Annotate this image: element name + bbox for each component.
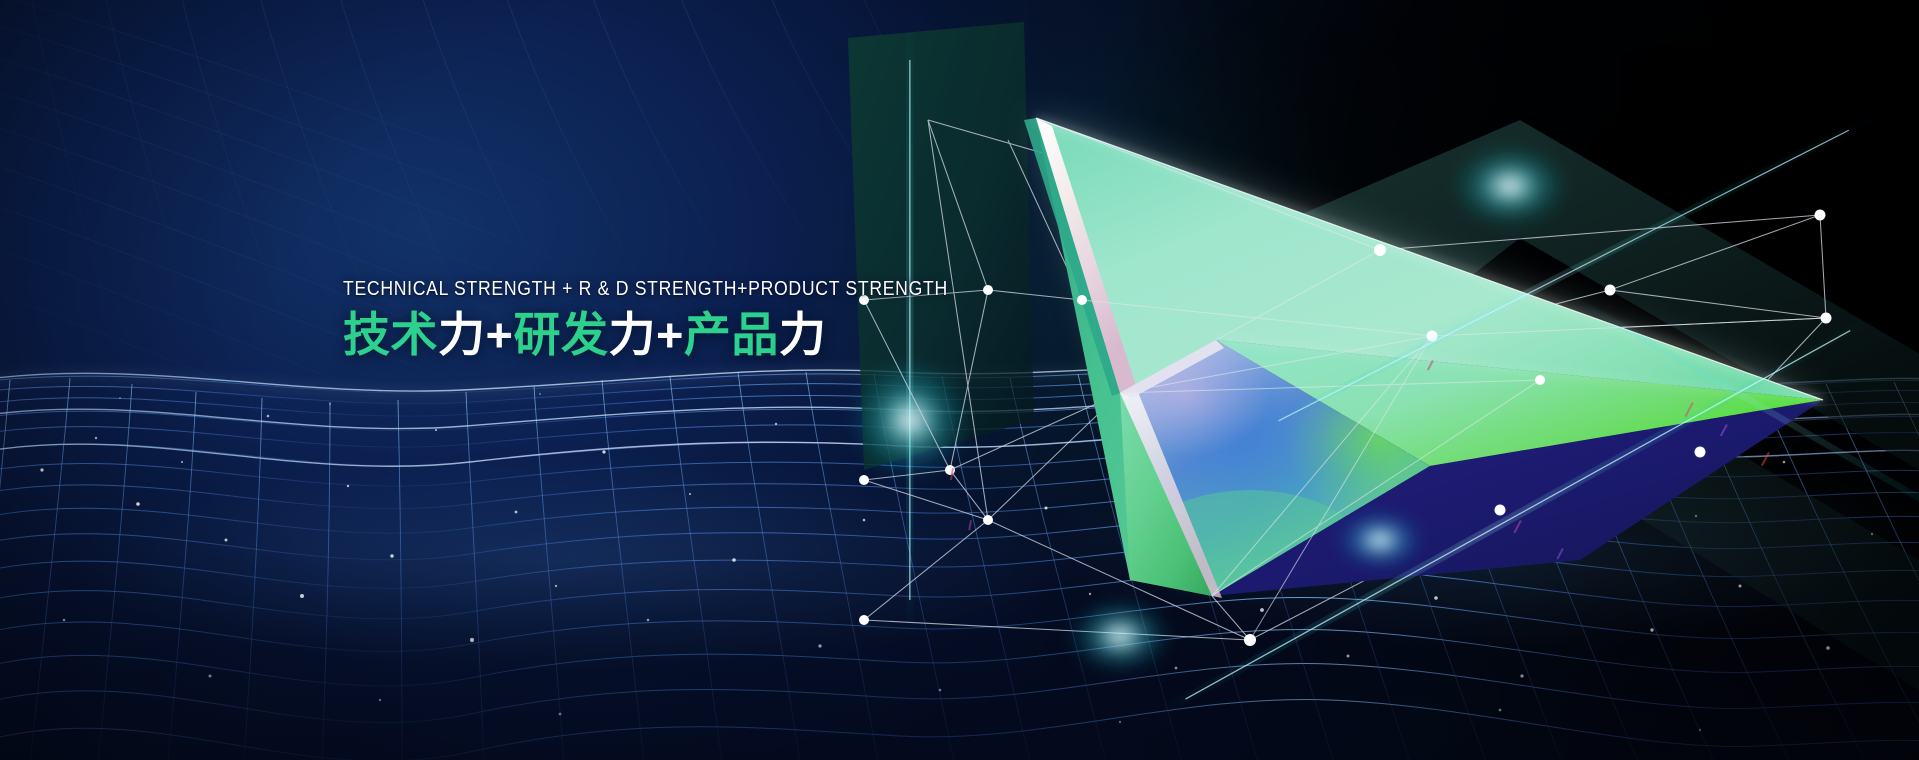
network-node — [983, 515, 993, 525]
headline-cn-segment-3: 研发 — [513, 308, 608, 361]
headline-cn-segment-1: 技术 — [343, 308, 438, 361]
network-node — [1605, 285, 1616, 296]
headline-cn-plus-1: + — [486, 308, 514, 361]
streak-flare-lower — [1068, 598, 1172, 674]
network-node — [1695, 447, 1706, 458]
headline-cn-plus-2: + — [656, 308, 684, 361]
headline-cn-segment-2: 力 — [438, 308, 486, 361]
network-node — [1815, 210, 1826, 221]
network-node — [859, 475, 869, 485]
network-node — [1077, 295, 1087, 305]
headline-cn-segment-6: 力 — [779, 308, 827, 361]
streak-flare-right — [1452, 144, 1568, 228]
headline-chinese: 技术力+研发力+产品力 — [343, 308, 1043, 363]
hero-banner: TECHNICAL STRENGTH + R & D STRENGTH+PROD… — [0, 0, 1919, 760]
streak-flare-mid — [1336, 510, 1424, 570]
network-node — [1495, 505, 1506, 516]
network-node — [859, 615, 869, 625]
network-node — [1535, 375, 1545, 385]
network-node — [1374, 244, 1386, 256]
headline-cn-segment-5: 产品 — [684, 308, 779, 361]
network-node — [1244, 634, 1256, 646]
headline-cn-segment-4: 力 — [608, 308, 656, 361]
headline-eyebrow-english: TECHNICAL STRENGTH + R & D STRENGTH+PROD… — [343, 278, 945, 300]
artwork-3d-play-arrow — [820, 0, 1919, 760]
headline-block: TECHNICAL STRENGTH + R & D STRENGTH+PROD… — [343, 278, 1043, 362]
network-node — [1821, 313, 1832, 324]
